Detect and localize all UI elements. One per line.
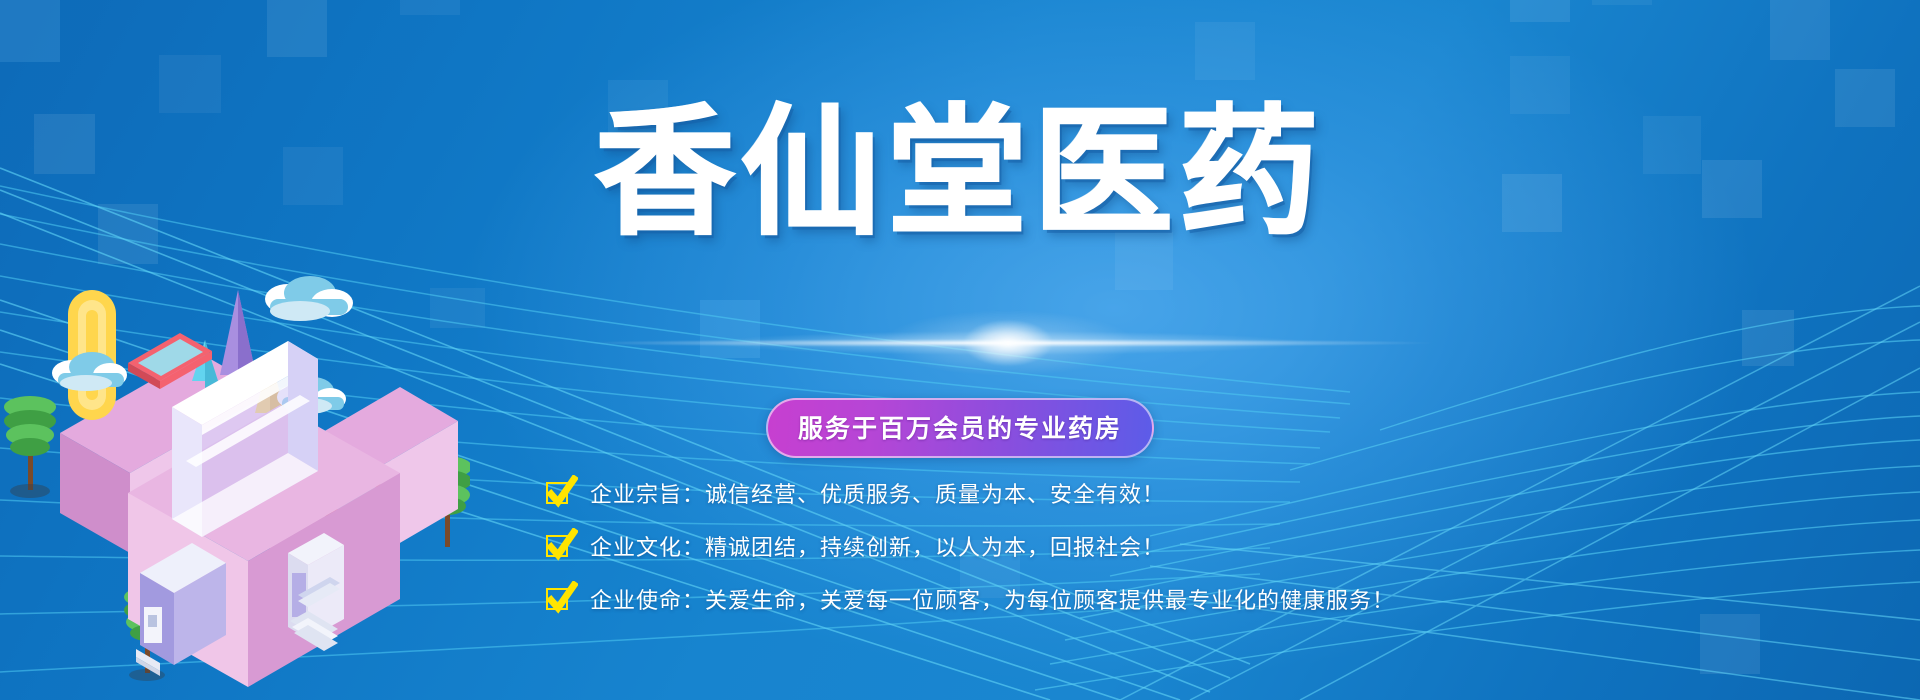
list-item-label: 企业文化：精诚团结，持续创新，以人为本，回报社会！	[590, 530, 1165, 562]
list-item: 企业文化：精诚团结，持续创新，以人为本，回报社会！	[546, 531, 1395, 561]
title-container: 香仙堂医药	[0, 104, 1920, 244]
check-box-icon	[546, 588, 568, 610]
decorative-square	[0, 0, 60, 62]
list-item-label: 企业宗旨：诚信经营、优质服务、质量为本、安全有效！	[590, 477, 1165, 509]
lens-flare	[540, 300, 1440, 386]
list-item: 企业使命：关爱生命，关爱每一位顾客，为每位顾客提供最专业化的健康服务！	[546, 584, 1395, 614]
decorative-square	[1195, 22, 1255, 80]
feature-list: 企业宗旨：诚信经营、优质服务、质量为本、安全有效！ 企业文化：精诚团结，持续创新…	[546, 478, 1395, 637]
check-box-icon	[546, 535, 568, 557]
decorative-square	[267, 0, 327, 57]
page-title: 香仙堂医药	[595, 104, 1325, 244]
slogan-container: 服务于百万会员的专业药房	[0, 398, 1920, 458]
decorative-square	[400, 0, 460, 15]
cloud-top	[265, 276, 353, 321]
decorative-square	[1742, 310, 1794, 366]
decorative-square	[1592, 0, 1652, 5]
list-item: 企业宗旨：诚信经营、优质服务、质量为本、安全有效！	[546, 478, 1395, 508]
decorative-square	[1700, 614, 1760, 674]
slogan-badge: 服务于百万会员的专业药房	[766, 398, 1154, 458]
isometric-pharmacy-illustration	[0, 255, 470, 700]
decorative-square	[1510, 0, 1570, 22]
check-box-icon	[546, 482, 568, 504]
banner-root: 香仙堂医药 服务于百万会员的专业药房 企业宗旨：诚信经营、优质服务、质量为本、安…	[0, 0, 1920, 700]
decorative-square	[1770, 0, 1830, 60]
list-item-label: 企业使命：关爱生命，关爱每一位顾客，为每位顾客提供最专业化的健康服务！	[590, 583, 1395, 615]
